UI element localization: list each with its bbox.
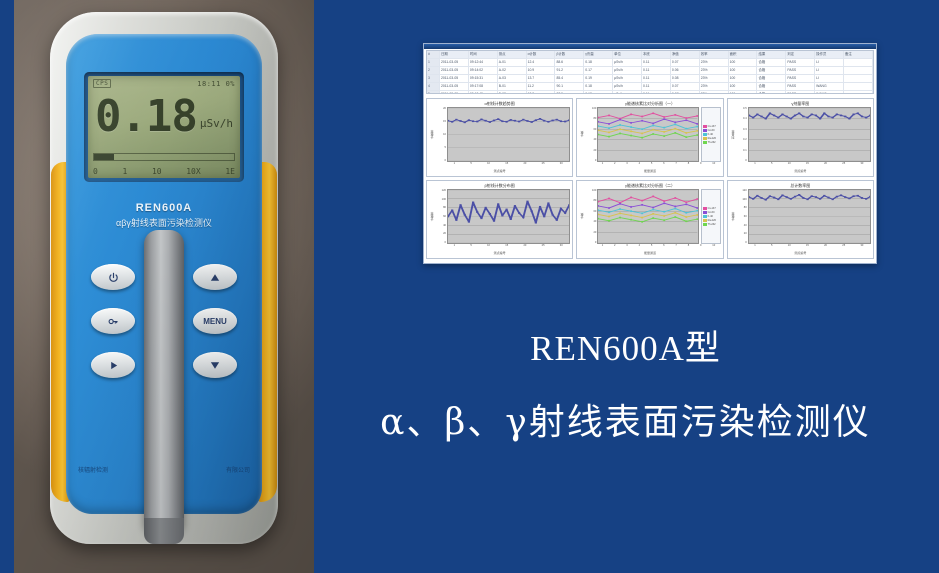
chart-legend-swatch: [703, 223, 707, 226]
chart-data-point: [464, 121, 466, 123]
chart-data-point: [631, 126, 633, 128]
chart-data-point: [620, 128, 622, 130]
chart-data-point: [493, 220, 495, 222]
chart-y-ticks: 0.50.40.30.20.10: [736, 107, 748, 162]
chart-legend-entry: Co-60: [703, 129, 719, 132]
chart-data-point: [631, 206, 633, 208]
chart-data-point: [675, 132, 677, 134]
chart-x-tick: 15: [505, 162, 508, 169]
chart-data-point: [468, 221, 470, 223]
table-column-header: 时间: [469, 51, 498, 58]
table-column-header: γ剂量: [584, 51, 613, 58]
chart-data-point: [848, 118, 850, 120]
table-cell: 0.11: [642, 83, 671, 90]
chart-legend-entry: Ra-226: [703, 137, 719, 140]
chart-body: 剂量率0.50.40.30.20.10: [730, 107, 871, 162]
chart-data-point: [489, 213, 491, 215]
table-cell: 合格: [757, 59, 786, 66]
chart-data-point: [598, 125, 599, 127]
table-cell: PASS: [786, 75, 815, 82]
chart-data-point: [552, 120, 554, 122]
table-column-header: 操作员: [815, 51, 844, 58]
table-cell: 合格: [757, 67, 786, 74]
chart-legend-label: K-40: [708, 215, 713, 218]
chart-data-point: [505, 121, 507, 123]
table-cell: 合格: [757, 91, 786, 94]
chart-data-point: [697, 115, 698, 117]
table-cell: 2011-03-05: [440, 59, 469, 66]
table-cell: PASS: [786, 67, 815, 74]
chart-x-tick: 20: [523, 244, 526, 251]
chart-data-point: [608, 207, 610, 209]
chart-body: 计数率120100806040200: [730, 189, 871, 244]
up-button[interactable]: [193, 264, 237, 290]
chart-data-point: [856, 112, 858, 114]
chart-panel[interactable]: γ剂量率图剂量率0.50.40.30.20.10151015202530测点编号: [727, 98, 874, 177]
chart-y-tick: 80: [593, 117, 596, 120]
table-column-header: 本底: [642, 51, 671, 58]
chart-panel[interactable]: β射线计数分布图计数率120100806040200151015202530测点…: [426, 180, 573, 259]
chart-x-ticks: 151015202530: [730, 244, 871, 251]
chart-data-point: [653, 125, 655, 127]
chart-data-point: [827, 197, 829, 199]
chart-data-point: [620, 212, 622, 214]
chart-data-point: [798, 194, 800, 196]
caption-description-line: α、β、γ射线表面污染检测仪: [320, 393, 931, 445]
slide-root: CPS 18:11 0% 0.18 µSv/h 0 1 10 10X: [0, 0, 939, 573]
chart-data-point: [823, 195, 825, 197]
table-cell: 2: [427, 67, 440, 74]
chart-data-point: [869, 115, 870, 117]
chart-x-ticks: 151015202530: [730, 162, 871, 169]
chart-legend-label: Ra-226: [708, 219, 716, 222]
chart-x-tick: 5: [470, 244, 471, 251]
chart-data-point: [675, 128, 677, 130]
chart-data-point: [620, 203, 622, 205]
table-cell: LI: [815, 59, 844, 66]
chart-data-point: [815, 115, 817, 117]
table-cell: 23%: [700, 91, 729, 94]
chart-y-tick: 20: [593, 149, 596, 152]
chart-data-point: [560, 208, 562, 210]
chart-data-point: [598, 201, 599, 203]
table-column-header: 日期: [440, 51, 469, 58]
chart-x-tick: 15: [505, 244, 508, 251]
chart-x-ticks: 151015202530: [429, 162, 570, 169]
chart-data-point: [547, 202, 549, 204]
lcd-reading: 0.18 µSv/h: [88, 96, 240, 138]
table-cell: [844, 83, 873, 90]
chart-data-point: [697, 198, 698, 200]
chart-y-tick: 20: [443, 107, 446, 110]
chart-legend-entry: Cs-137: [703, 207, 719, 210]
table-row[interactable]: 32011-03-0509:15:31A-0313.785.40.19µSv/h…: [427, 75, 873, 83]
chart-data-point: [686, 119, 688, 121]
table-cell: 3: [427, 75, 440, 82]
chart-y-tick: 100: [592, 107, 596, 110]
chart-data-point: [819, 198, 821, 200]
chart-data-point: [675, 212, 677, 214]
chart-x-tick: 1: [602, 162, 603, 169]
table-column-header: 测点: [498, 51, 527, 58]
chart-data-point: [497, 203, 499, 205]
chart-legend-label: Cs-137: [708, 207, 716, 210]
chart-y-tick: 120: [742, 189, 746, 192]
chart-series-line: [598, 119, 697, 124]
chart-data-point: [514, 205, 516, 207]
chart-x-tick: 3: [626, 162, 627, 169]
chart-series-line: [749, 113, 870, 118]
chart-data-point: [810, 114, 812, 116]
table-row[interactable]: 52011-03-0509:18:45B-0212.887.90.18µSv/h…: [427, 91, 873, 94]
chart-legend-label: Co-60: [708, 129, 715, 132]
start-button[interactable]: [91, 352, 135, 378]
chart-data-point: [756, 195, 758, 197]
table-cell: WANG: [815, 91, 844, 94]
chart-data-point: [653, 129, 655, 131]
chart-body: 计数率120100806040200: [429, 189, 570, 244]
chart-y-tick: 60: [744, 215, 747, 218]
chart-data-point: [856, 195, 858, 197]
chart-x-tick: 20: [824, 244, 827, 251]
chart-data-point: [819, 118, 821, 120]
chart-data-point: [531, 210, 533, 212]
device-branding: REN600A αβγ射线表面污染检测仪: [66, 202, 262, 229]
table-column-header: 效率: [700, 51, 729, 58]
chart-data-point: [777, 117, 779, 119]
table-column-header: 结果: [757, 51, 786, 58]
chart-data-point: [664, 211, 666, 213]
chart-series-line: [598, 209, 697, 214]
chart-data-point: [510, 218, 512, 220]
chart-data-point: [598, 209, 599, 211]
caption-model-line: REN600A型: [320, 320, 931, 371]
chart-panel[interactable]: γ能谱核素比对分析图（一）计数100806040200Cs-137Co-60K-…: [576, 98, 723, 177]
chart-data-point: [865, 117, 867, 119]
table-cell: A-02: [498, 67, 527, 74]
chart-data-point: [653, 123, 655, 125]
table-cell: µSv/h: [613, 75, 642, 82]
table-cell: 0.06: [671, 67, 700, 74]
menu-button[interactable]: MENU: [193, 308, 237, 334]
chart-series-line: [448, 201, 569, 222]
table-cell: A-03: [498, 75, 527, 82]
chart-x-tick: 7: [675, 162, 676, 169]
table-cell: 100: [729, 91, 758, 94]
chart-data-point: [773, 115, 775, 117]
chart-x-tick: 5: [771, 162, 772, 169]
chart-data-point: [472, 202, 474, 204]
lcd-bargraph: [93, 153, 235, 161]
chart-legend: Cs-137Co-60K-40Ra-226Th-232: [701, 189, 721, 244]
table-cell: 0.18: [584, 59, 613, 66]
table-cell: 09:15:31: [469, 75, 498, 82]
chart-data-point: [798, 112, 800, 114]
table-cell: 11.2: [527, 83, 556, 90]
chart-data-point: [785, 116, 787, 118]
chart-data-point: [480, 217, 482, 219]
chart-data-point: [697, 123, 698, 125]
chart-data-point: [518, 212, 520, 214]
table-cell: 2011-03-05: [440, 75, 469, 82]
chart-data-point: [476, 121, 478, 123]
chart-data-point: [620, 124, 622, 126]
chart-data-point: [697, 126, 698, 128]
chart-data-point: [840, 115, 842, 117]
chart-y-axis-label: 计数率: [730, 189, 736, 244]
chart-x-tick: 10: [788, 162, 791, 169]
chart-data-point: [489, 121, 491, 123]
lcd-status-row: CPS 18:11 0%: [93, 79, 235, 88]
chart-x-tick: 25: [842, 162, 845, 169]
chart-data-point: [869, 196, 870, 198]
chart-panel[interactable]: α射线计数趋势图计数率20151050151015202530测点编号: [426, 98, 573, 177]
chart-x-tick: 30: [560, 162, 563, 169]
chart-grid: α射线计数趋势图计数率20151050151015202530测点编号γ能谱核素…: [424, 96, 876, 261]
lock-button[interactable]: [91, 308, 135, 334]
chart-data-point: [476, 211, 478, 213]
chart-data-point: [756, 114, 758, 116]
chart-data-point: [526, 201, 528, 203]
table-cell: µSv/h: [613, 67, 642, 74]
chart-y-axis-label: 计数: [579, 107, 585, 162]
chart-data-point: [564, 212, 566, 214]
chart-data-point: [642, 137, 644, 139]
chart-data-point: [642, 221, 644, 223]
lcd-status-text: 18:11 0%: [197, 80, 235, 88]
table-cell: 2011-03-05: [440, 91, 469, 94]
chart-y-tick: 20: [744, 232, 747, 235]
key-icon: [107, 316, 119, 327]
chart-data-point: [608, 216, 610, 218]
power-button[interactable]: [91, 264, 135, 290]
chart-data-point: [620, 119, 622, 121]
chart-data-point: [642, 217, 644, 219]
chart-data-point: [664, 116, 666, 118]
chart-legend: Cs-137Co-60K-40Ra-226Th-232: [701, 107, 721, 162]
chart-y-tick: 40: [593, 220, 596, 223]
lcd-scale-tick: 1: [122, 167, 127, 176]
chart-legend-entry: K-40: [703, 215, 719, 218]
chart-data-point: [749, 115, 750, 117]
lcd-scale-tick: 10X: [186, 167, 200, 176]
chart-x-tick: 9: [700, 244, 701, 251]
device-subtitle-label: αβγ射线表面污染检测仪: [66, 216, 262, 229]
chart-x-axis-label: 测点编号: [730, 169, 871, 174]
table-cell: 23%: [700, 59, 729, 66]
table-cell: 12.8: [527, 91, 556, 94]
chart-x-tick: 2: [614, 244, 615, 251]
table-cell: µSv/h: [613, 83, 642, 90]
chart-legend-swatch: [703, 215, 707, 218]
chart-data-point: [852, 195, 854, 197]
chart-x-tick: 25: [542, 244, 545, 251]
chart-data-point: [675, 124, 677, 126]
chart-legend-entry: Ra-226: [703, 219, 719, 222]
chart-series-line: [598, 196, 697, 202]
chart-x-tick: 10: [487, 244, 490, 251]
chart-data-point: [664, 215, 666, 217]
chart-data-point: [686, 132, 688, 134]
chart-y-ticks: 20151050: [435, 107, 447, 162]
chart-data-point: [653, 133, 655, 135]
chart-data-point: [653, 196, 655, 198]
chart-data-point: [794, 115, 796, 117]
chart-data-point: [568, 204, 569, 206]
chart-data-point: [794, 196, 796, 198]
chart-y-tick: 40: [744, 224, 747, 227]
chart-data-point: [497, 118, 499, 120]
table-cell: LI: [815, 67, 844, 74]
chart-y-tick: 40: [443, 224, 446, 227]
table-cell: 0.08: [671, 75, 700, 82]
table-cell: 88.6: [555, 59, 584, 66]
lcd-scale-tick: 1E: [225, 167, 235, 176]
table-cell: 23%: [700, 75, 729, 82]
table-cell: 10.9: [527, 67, 556, 74]
chart-data-point: [608, 136, 610, 138]
chart-series-line: [598, 133, 697, 138]
chart-y-tick: 0.5: [743, 107, 747, 110]
table-cell: 合格: [757, 75, 786, 82]
chart-data-point: [785, 196, 787, 198]
chart-data-point: [464, 214, 466, 216]
table-cell: B-02: [498, 91, 527, 94]
chart-y-tick: 100: [592, 189, 596, 192]
chart-x-tick: 10: [712, 244, 715, 251]
chart-data-point: [768, 195, 770, 197]
chart-data-point: [455, 219, 457, 221]
chart-data-point: [514, 120, 516, 122]
chart-data-point: [686, 117, 688, 119]
device-footer-left: 核辐射检测: [78, 465, 108, 474]
chart-data-point: [451, 209, 453, 211]
chart-x-tick: 25: [842, 244, 845, 251]
chart-x-ticks: 12345678910: [579, 162, 720, 169]
chart-y-axis-label: 计数: [579, 189, 585, 244]
handheld-contamination-meter: CPS 18:11 0% 0.18 µSv/h 0 1 10 10X: [50, 12, 278, 544]
table-cell: 0.18: [584, 83, 613, 90]
chart-x-tick: 5: [771, 244, 772, 251]
chart-data-point: [631, 197, 633, 199]
table-cell: 0.17: [584, 67, 613, 74]
table-cell: 0.11: [642, 67, 671, 74]
table-cell: 0.19: [584, 75, 613, 82]
chart-data-point: [480, 119, 482, 121]
device-model-label: REN600A: [66, 202, 262, 214]
chart-data-point: [664, 118, 666, 120]
chart-data-point: [598, 121, 599, 123]
chart-legend-swatch: [703, 219, 707, 222]
chart-y-tick: 15: [443, 120, 446, 123]
chart-data-point: [485, 120, 487, 122]
chart-data-point: [653, 217, 655, 219]
chart-data-point: [789, 198, 791, 200]
chart-legend-entry: Th-232: [703, 223, 719, 226]
chart-data-point: [518, 121, 520, 123]
chart-legend-label: Cs-137: [708, 125, 716, 128]
table-row[interactable]: 22011-03-0509:14:02A-0210.991.20.17µSv/h…: [427, 67, 873, 75]
chart-data-point: [522, 119, 524, 121]
chart-y-tick: 5: [445, 146, 446, 149]
chart-x-tick: 1: [454, 244, 455, 251]
chart-legend-swatch: [703, 207, 707, 210]
chart-series-line: [598, 217, 697, 222]
table-cell: 0.11: [642, 75, 671, 82]
chart-data-point: [485, 207, 487, 209]
chart-data-point: [760, 116, 762, 118]
down-button[interactable]: [193, 352, 237, 378]
table-cell: LI: [815, 75, 844, 82]
chart-y-tick: 60: [593, 210, 596, 213]
chart-data-point: [686, 136, 688, 138]
chart-data-point: [535, 119, 537, 121]
chart-x-tick: 30: [560, 244, 563, 251]
chart-y-ticks: 120100806040200: [435, 189, 447, 244]
chart-y-tick: 20: [593, 231, 596, 234]
chart-data-point: [764, 199, 766, 201]
chart-x-tick: 6: [663, 162, 664, 169]
chart-x-tick: 25: [542, 162, 545, 169]
chart-data-point: [526, 120, 528, 122]
chart-data-point: [642, 212, 644, 214]
table-cell: 09:14:02: [469, 67, 498, 74]
chart-data-point: [539, 206, 541, 208]
arrow-up-icon: [209, 272, 221, 283]
chart-plot-area: [447, 107, 570, 162]
chart-x-axis-label: 测点编号: [429, 169, 570, 174]
chart-panel[interactable]: γ能谱核素比对分析图（二）计数100806040200Cs-137Co-60K-…: [576, 180, 723, 259]
table-cell: 0.07: [671, 59, 700, 66]
chart-data-point: [598, 214, 599, 216]
chart-x-tick: 8: [688, 162, 689, 169]
chart-y-tick: 40: [593, 138, 596, 141]
table-row[interactable]: 42011-03-0509:17:08B-0111.290.10.18µSv/h…: [427, 83, 873, 91]
chart-data-point: [451, 121, 453, 123]
chart-data-point: [844, 196, 846, 198]
chart-body: 计数率20151050: [429, 107, 570, 162]
lcd-scale-tick: 10: [152, 167, 162, 176]
table-row[interactable]: 12011-03-0509:12:44A-0112.488.60.18µSv/h…: [427, 59, 873, 67]
lcd-scale-tick: 0: [93, 167, 98, 176]
chart-panel[interactable]: 总计数率图计数率120100806040200151015202530测点编号: [727, 180, 874, 259]
chart-data-point: [631, 122, 633, 124]
table-cell: 2011-03-05: [440, 83, 469, 90]
chart-data-point: [686, 128, 688, 130]
chart-x-tick: 5: [470, 162, 471, 169]
table-cell: µSv/h: [613, 59, 642, 66]
chart-data-point: [781, 194, 783, 196]
chart-data-point: [697, 134, 698, 136]
measurement-data-table[interactable]: #日期时间测点α计数β计数γ剂量单位本底净值效率面积结果判定操作员备注12011…: [426, 50, 874, 94]
table-cell: 0.07: [671, 83, 700, 90]
chart-data-point: [620, 133, 622, 135]
chart-y-tick: 10: [443, 133, 446, 136]
chart-x-tick: 10: [712, 162, 715, 169]
chart-data-point: [543, 216, 545, 218]
table-column-header: 单位: [613, 51, 642, 58]
chart-y-tick: 80: [593, 199, 596, 202]
table-column-header: 判定: [786, 51, 815, 58]
chart-data-point: [675, 206, 677, 208]
chart-legend-swatch: [703, 141, 707, 144]
chart-legend-label: Th-232: [708, 223, 716, 226]
chart-data-point: [686, 212, 688, 214]
chart-data-point: [642, 200, 644, 202]
chart-legend-swatch: [703, 137, 707, 140]
chart-data-point: [448, 120, 449, 122]
table-cell: [844, 67, 873, 74]
